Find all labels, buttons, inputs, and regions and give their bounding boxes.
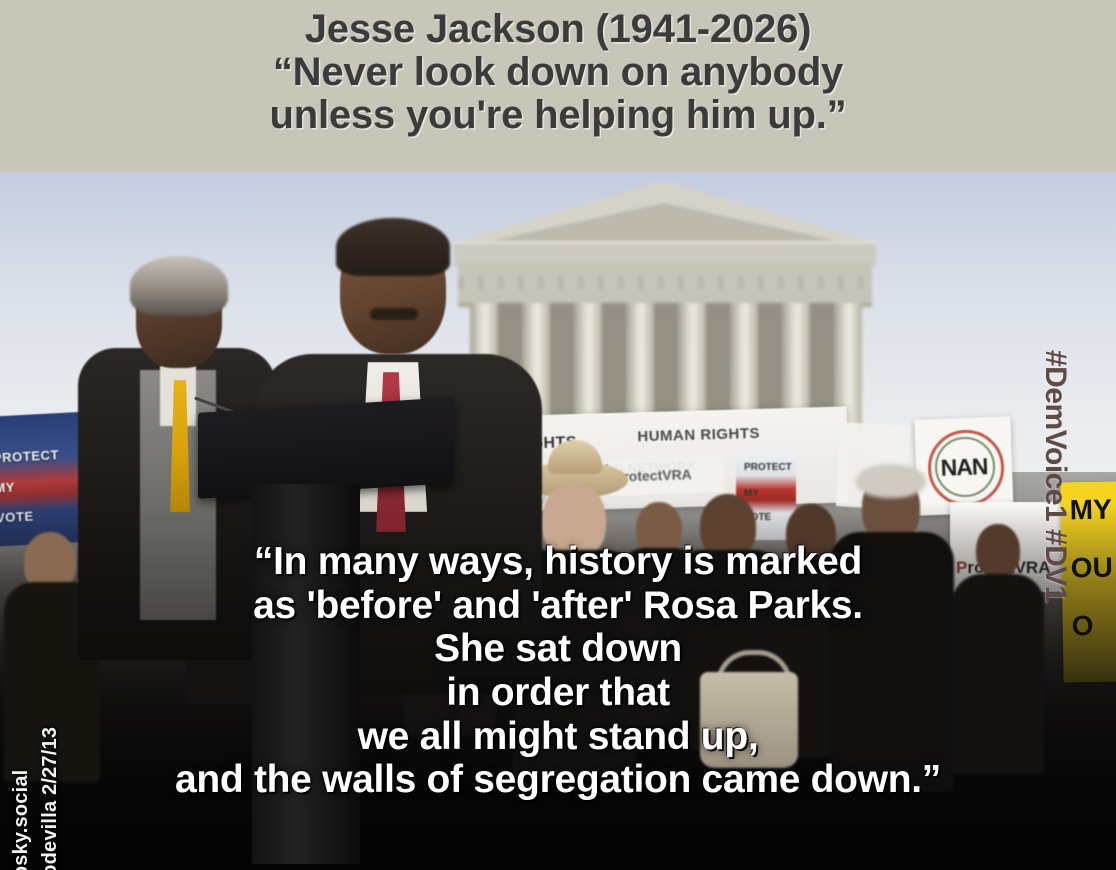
meme-image: Jesse Jackson (1941-2026) “Never look do… bbox=[0, 0, 1116, 870]
banner-text-human-rights: HUMAN RIGHTS bbox=[637, 425, 760, 445]
sign-blue-line2: MY bbox=[744, 488, 759, 499]
hashtag-text: #DemVoice1 #DV1 bbox=[1038, 350, 1072, 602]
credit-handle: @DeciderDivider bbox=[0, 344, 6, 870]
crowd-face bbox=[786, 504, 836, 566]
credits-block: @DeciderDivider @dividerdecider.bsky.soc… bbox=[0, 344, 104, 870]
photograph: CIVIL RIGHTS HUMAN RIGHTS ACTION NETWORK… bbox=[0, 172, 1116, 870]
crowd-face bbox=[976, 524, 1020, 578]
crowd-face-hat-man bbox=[542, 482, 606, 560]
sign-blue-line1: PROTECT bbox=[744, 462, 792, 473]
header-line-quote-2: unless you're helping him up.” bbox=[270, 94, 847, 137]
crowd-coat bbox=[830, 532, 954, 792]
credit-photo: Photo: Chip Somodevilla 2/27/13 bbox=[39, 344, 62, 870]
sharpton-hair bbox=[130, 256, 228, 316]
crowd-coat bbox=[952, 574, 1044, 774]
sign-nan-logo: NAN bbox=[914, 416, 1013, 515]
hashtag-block: #DemVoice1 #DV1 bbox=[1058, 344, 1116, 870]
jackson-hair bbox=[336, 218, 450, 276]
crowd-hair-gray bbox=[856, 464, 926, 498]
nan-logo-text: NAN bbox=[936, 453, 993, 482]
header-banner: Jesse Jackson (1941-2026) “Never look do… bbox=[0, 0, 1116, 172]
header-line-quote-1: “Never look down on anybody bbox=[273, 51, 843, 94]
credit-bluesky: @dividerdecider.bsky.social bbox=[10, 344, 33, 870]
jackson-mustache bbox=[370, 308, 418, 320]
handbag bbox=[700, 672, 798, 768]
podium-column bbox=[252, 484, 360, 864]
header-line-name: Jesse Jackson (1941-2026) bbox=[305, 8, 812, 51]
